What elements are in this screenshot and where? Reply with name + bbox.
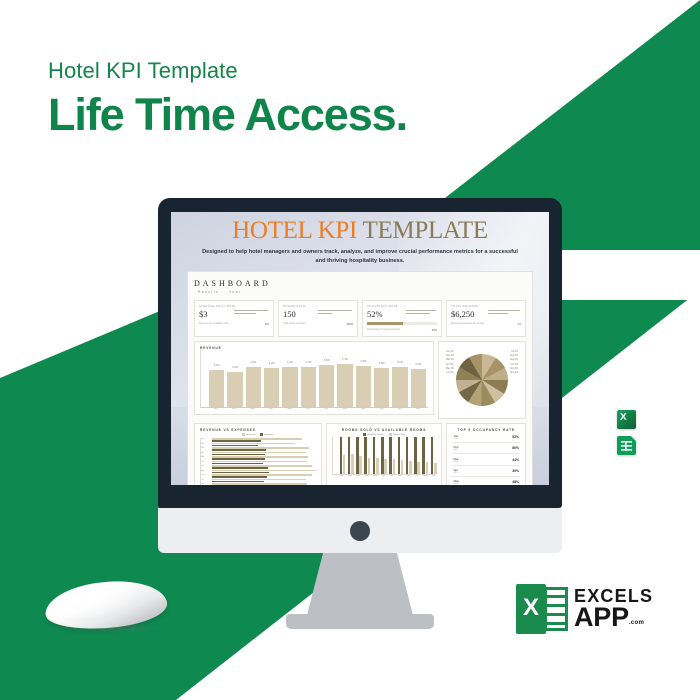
rev-exp-bar	[212, 472, 269, 474]
kpi-label: TOTAL REVENUE	[451, 305, 521, 308]
monitor-logo-dot	[350, 521, 370, 541]
revenue-bar: 6,150	[301, 367, 316, 406]
rev-exp-bar	[212, 467, 268, 469]
top5-month: Mar	[453, 457, 458, 461]
revenue-bar-label: 6,700	[342, 359, 348, 361]
kpi-card[interactable]: OCCUPANCY RATE 52% Percentage of rooms o…	[362, 300, 442, 336]
brand-line2: APP.com	[574, 605, 653, 631]
revenue-x-tick: Sep	[355, 408, 370, 410]
kpi-label: AVERAGE DAILY RATE	[199, 305, 269, 308]
top5-percent: 48%	[512, 480, 519, 484]
top5-row-label: May2024	[453, 479, 459, 485]
rooms-bar-pair	[389, 437, 395, 474]
kpi-sidenote	[234, 310, 268, 315]
revenue-x-tick: Jun	[300, 408, 315, 410]
revenue-bar: 5,800	[209, 370, 224, 407]
rev-exp-row-label: Apr	[201, 452, 204, 454]
rooms-bar	[389, 437, 392, 474]
document-title-primary: HOTEL KPI	[232, 217, 357, 244]
rooms-bar	[422, 437, 425, 474]
computer-mouse	[45, 578, 170, 644]
kpi-card[interactable]: AVERAGE DAILY RATE $3 Revenue per availa…	[194, 300, 274, 336]
eyebrow-text: Hotel KPI Template	[48, 58, 407, 84]
pie-legend-left: Jan 9%Feb 8%Mar 8%Apr 9%May 8%Jun 9%	[446, 350, 454, 376]
rev-exp-row-label: Nov	[201, 483, 204, 485]
rooms-x-tick: Jan	[339, 475, 345, 477]
kpi-card-row: AVERAGE DAILY RATE $3 Revenue per availa…	[194, 300, 526, 336]
headline-block: Hotel KPI Template Life Time Access.	[48, 58, 407, 140]
monitor-stand-neck	[307, 553, 413, 615]
rev-exp-row: Nov	[212, 483, 316, 485]
revenue-bar: 6,050	[374, 368, 389, 407]
rooms-bar	[393, 459, 396, 474]
dashboard-card: DASHBOARD Results Year AVERAGE DAILY RAT…	[187, 271, 533, 485]
top5-row[interactable]: Feb202480%	[452, 443, 520, 454]
rooms-x-tick: Dec	[431, 475, 437, 477]
rev-exp-row: Mar	[212, 447, 316, 451]
bottom-chart-row: REVENUE VS EXPENSES Revenue Expenses Jan…	[194, 423, 526, 485]
revenue-bar-label: 6,450	[360, 361, 366, 363]
top5-year: 2024	[453, 449, 458, 451]
revenue-bar-label: 6,300	[250, 362, 256, 364]
pie-graphic	[456, 354, 508, 406]
brand-wordmark: EXCELS APP.com	[574, 588, 653, 631]
top5-year: 2024	[453, 438, 458, 440]
top5-year: 2024	[453, 472, 458, 474]
revenue-bar-chart[interactable]: REVENUE 5,8005,4006,3006,1006,2006,1506,…	[194, 341, 434, 415]
rev-exp-row: Apr	[212, 452, 316, 456]
kpi-foot-note: Total rooms occupied	[283, 322, 306, 326]
revenue-bar-label: 6,150	[397, 362, 403, 364]
top5-rows: Jan202452%Feb202480%Mar202444%Apr202430%…	[452, 432, 520, 485]
document-title-secondary: TEMPLATE	[357, 217, 488, 244]
top5-year: 2024	[453, 483, 459, 485]
revenue-x-tick: Jul	[319, 408, 334, 410]
revenue-x-tick: Nov	[392, 408, 407, 410]
legend-item-sold: Rooms Sold	[389, 433, 405, 436]
rooms-bar	[409, 461, 412, 474]
kpi-sidenote	[406, 310, 436, 315]
sheets-file-icon[interactable]	[617, 436, 636, 455]
rooms-x-tick: Aug	[397, 475, 403, 477]
top5-occupancy-table[interactable]: TOP 5 OCCUPANCY RATE Jan202452%Feb202480…	[446, 423, 526, 485]
rooms-bar-pair	[406, 437, 412, 474]
pie-plot-area: Jan 9%Feb 8%Mar 8%Apr 9%May 8%Jun 9% Jul…	[444, 346, 520, 414]
monitor-bezel: HOTEL KPI TEMPLATE Designed to help hote…	[158, 198, 562, 508]
mid-chart-row: REVENUE 5,8005,4006,3006,1006,2006,1506,…	[194, 341, 526, 419]
pie-legend-item: Jun 9%	[446, 371, 454, 375]
rev-exp-bar	[212, 458, 265, 460]
rev-exp-bar	[212, 445, 258, 447]
kpi-sidenote	[318, 310, 352, 315]
rooms-bar-pair	[398, 437, 404, 474]
rev-exp-bar	[212, 481, 264, 483]
revenue-x-tick: Apr	[263, 408, 278, 410]
legend-item-revenue: Revenue	[242, 433, 255, 436]
rooms-x-axis: JanFebMarAprMayJunJulAugSepOctNovDec	[332, 475, 437, 477]
page-title: Life Time Access.	[48, 90, 407, 140]
rooms-bar-pair	[373, 437, 379, 474]
rev-exp-row: Jul	[212, 465, 316, 469]
revenue-x-tick: Jan	[208, 408, 223, 410]
brand-logo[interactable]: EXCELS APP.com	[516, 584, 653, 634]
monitor-screen: HOTEL KPI TEMPLATE Designed to help hote…	[171, 212, 549, 485]
rooms-bar-pair	[414, 437, 420, 474]
rev-exp-bar	[212, 440, 261, 442]
top5-row-label: Mar2024	[453, 457, 458, 463]
rooms-x-tick: Mar	[355, 475, 361, 477]
dashboard-sub-left: Results	[198, 290, 219, 294]
rooms-x-tick: Nov	[422, 475, 428, 477]
kpi-foot-value: 115	[265, 323, 269, 326]
revenue-breakdown-pie-chart[interactable]: Jan 9%Feb 8%Mar 8%Apr 9%May 8%Jun 9% Jul…	[438, 341, 526, 419]
revenue-vs-expenses-chart[interactable]: REVENUE VS EXPENSES Revenue Expenses Jan…	[194, 423, 322, 485]
rooms-x-tick: May	[372, 475, 378, 477]
rev-exp-bar	[212, 454, 265, 456]
dashboard-sub-right: Year	[229, 290, 241, 294]
revenue-bar-label: 5,800	[214, 365, 220, 367]
top5-row-label: Feb2024	[453, 445, 458, 451]
revenue-bar: 6,700	[337, 364, 352, 407]
rev-exp-row: Oct	[212, 479, 316, 483]
revenue-bar: 6,500	[319, 365, 334, 406]
revenue-x-tick: Feb	[226, 408, 241, 410]
spreadsheet-document: HOTEL KPI TEMPLATE Designed to help hote…	[181, 218, 539, 485]
rooms-bar	[417, 462, 420, 475]
rooms-bar	[351, 454, 354, 474]
rooms-bar	[426, 462, 429, 474]
revenue-bar: 5,400	[227, 372, 242, 406]
rooms-bar	[434, 463, 437, 474]
revenue-x-tick: Dec	[411, 408, 426, 410]
kpi-footer: Percentage of rooms occupied 52%	[367, 328, 437, 332]
rev-exp-bar	[212, 463, 263, 465]
rooms-bar	[401, 460, 404, 474]
rooms-bar	[384, 459, 387, 475]
mouse-highlight	[51, 584, 140, 625]
brand-tld: .com	[629, 620, 644, 626]
kpi-sidenote	[488, 310, 520, 315]
top5-row[interactable]: Apr202430%	[452, 466, 520, 477]
revenue-x-tick: Aug	[337, 408, 352, 410]
excel-file-icon[interactable]	[617, 410, 636, 429]
rev-exp-row: Jan	[212, 438, 316, 442]
revenue-bar-label: 5,400	[232, 367, 238, 369]
kpi-card[interactable]: TOTAL REVENUE $6,250 Revenue generated t…	[446, 300, 526, 336]
document-title: HOTEL KPI TEMPLATE	[181, 218, 539, 243]
revenue-bar-label: 6,050	[379, 363, 385, 365]
rooms-bar	[381, 437, 384, 474]
occupancy-progress-bar	[367, 322, 437, 325]
rev-exp-row: Sep	[212, 474, 316, 478]
imac-monitor: HOTEL KPI TEMPLATE Designed to help hote…	[158, 198, 562, 629]
revenue-bar: 6,150	[392, 367, 407, 406]
rev-exp-row-label: Jun	[201, 461, 204, 463]
rooms-bar	[348, 437, 351, 474]
top5-percent: 80%	[512, 446, 519, 450]
rooms-bar	[398, 437, 401, 474]
kpi-foot-note: Revenue generated this period	[451, 322, 484, 326]
revenue-x-tick: May	[282, 408, 297, 410]
rev-exp-row-label: Jan	[201, 438, 204, 440]
rev-exp-row-label: Aug	[201, 470, 204, 472]
excel-x-badge	[516, 584, 546, 634]
rooms-bar	[373, 437, 376, 474]
rooms-bar	[368, 458, 371, 475]
kpi-label: OCCUPANCY RATE	[367, 305, 437, 308]
kpi-footer: Revenue per available room 115	[199, 322, 269, 326]
rev-exp-row: Feb	[212, 443, 316, 447]
rev-exp-row: Aug	[212, 470, 316, 474]
promo-canvas: Hotel KPI Template Life Time Access. HOT…	[0, 0, 700, 700]
top5-row[interactable]: Jan202452%	[452, 432, 520, 443]
file-icon-group	[617, 410, 636, 455]
top5-row-label: Jan2024	[453, 434, 458, 440]
top5-percent: 30%	[512, 469, 519, 473]
rev-exp-row: May	[212, 456, 316, 460]
revenue-bar-label: 6,100	[269, 363, 275, 365]
top5-row[interactable]: May202448%	[452, 477, 520, 485]
rooms-x-tick: Jul	[389, 475, 395, 477]
revenue-bar: 6,450	[356, 366, 371, 407]
revenue-x-tick: Oct	[374, 408, 389, 410]
kpi-foot-note: Percentage of rooms occupied	[367, 328, 399, 332]
kpi-footer: Total rooms occupied 100%	[283, 322, 353, 326]
spreadsheet-grid-icon	[544, 587, 568, 631]
top5-percent: 44%	[512, 458, 519, 462]
rooms-sold-chart[interactable]: ROOMS SOLD VS AVAILABLE ROOMS Available …	[326, 423, 443, 485]
kpi-foot-note: Revenue per available room	[199, 322, 229, 326]
rev-exp-bar	[212, 476, 267, 478]
rooms-bar	[343, 455, 346, 474]
rooms-bar	[356, 437, 359, 474]
rooms-plot-area	[332, 437, 437, 475]
revenue-bar-label: 6,500	[324, 360, 330, 362]
rev-exp-row-label: Feb	[201, 443, 204, 445]
top5-year: 2024	[453, 461, 458, 463]
kpi-foot-value: 52%	[432, 329, 437, 332]
rooms-chart-title: ROOMS SOLD VS AVAILABLE ROOMS	[332, 428, 437, 432]
kpi-label: ROOMS SOLD	[283, 305, 353, 308]
rev-exp-row-label: Sep	[201, 474, 204, 476]
rooms-x-tick: Apr	[364, 475, 370, 477]
revenue-bar-label: 5,900	[415, 364, 421, 366]
monitor-chin	[158, 508, 562, 553]
rev-exp-title: REVENUE VS EXPENSES	[200, 428, 316, 432]
dashboard-heading: DASHBOARD	[194, 279, 526, 288]
rooms-bar-pair	[431, 437, 437, 474]
rev-exp-row-label: May	[201, 456, 204, 458]
excel-logo-mark	[516, 584, 568, 634]
rooms-bar-pair	[340, 437, 346, 474]
legend-item-expenses: Expenses	[260, 433, 274, 436]
rev-exp-bar	[212, 449, 266, 451]
rooms-x-tick: Sep	[405, 475, 411, 477]
rooms-bar	[359, 456, 362, 474]
rooms-bar	[414, 437, 417, 474]
monitor-stand-foot	[286, 614, 434, 629]
rooms-bar-pair	[381, 437, 387, 474]
rooms-bar	[340, 437, 343, 474]
revenue-bars-plot-area: 5,8005,4006,3006,1006,2006,1506,5006,700…	[200, 350, 428, 408]
rooms-x-tick: Oct	[414, 475, 420, 477]
top5-title: TOP 5 OCCUPANCY RATE	[452, 428, 520, 432]
pie-legend-right: Jul 8%Aug 8%Sep 8%Oct 8%Nov 8%Dec 9%	[510, 350, 518, 376]
document-subtitle: Designed to help hotel managers and owne…	[181, 248, 539, 265]
legend-item-available: Available Rooms	[363, 433, 384, 436]
revenue-bar: 6,300	[246, 367, 261, 407]
revenue-bar: 6,200	[282, 367, 297, 407]
revenue-x-axis: JanFebMarAprMayJunJulAugSepOctNovDec	[200, 408, 428, 410]
rev-exp-legend: Revenue Expenses	[200, 433, 316, 436]
rooms-x-tick: Jun	[380, 475, 386, 477]
rev-exp-row: Jun	[212, 461, 316, 465]
rooms-legend: Available Rooms Rooms Sold	[332, 433, 437, 436]
rooms-bar	[406, 437, 409, 474]
kpi-footer: Revenue generated this period 1.5	[451, 322, 521, 326]
dashboard-subheading: Results Year	[198, 290, 526, 294]
rev-exp-row-label: Mar	[201, 447, 204, 449]
top5-percent: 52%	[512, 435, 519, 439]
kpi-foot-value: 1.5	[517, 323, 521, 326]
kpi-card[interactable]: ROOMS SOLD 150 Total rooms occupied 100%	[278, 300, 358, 336]
kpi-foot-value: 100%	[346, 323, 353, 326]
rooms-bar-pair	[356, 437, 362, 474]
revenue-bar-label: 6,150	[305, 362, 311, 364]
top5-row[interactable]: Mar202444%	[452, 454, 520, 465]
rooms-bar-pair	[422, 437, 428, 474]
rooms-bar	[431, 437, 434, 474]
rooms-bar-pair	[364, 437, 370, 474]
rev-exp-plot-area: JanFebMarAprMayJunJulAugSepOctNovDec	[200, 438, 316, 485]
pie-legend-item: Dec 9%	[510, 371, 518, 375]
revenue-bar: 5,900	[411, 369, 426, 407]
rooms-bar	[364, 437, 367, 474]
rooms-x-tick: Feb	[347, 475, 353, 477]
revenue-bar-label: 6,200	[287, 362, 293, 364]
rooms-bar	[376, 458, 379, 474]
top5-row-label: Apr2024	[453, 468, 458, 474]
revenue-x-tick: Mar	[245, 408, 260, 410]
rev-exp-row-label: Jul	[201, 465, 203, 467]
rooms-bar-pair	[348, 437, 354, 474]
rev-exp-row-label: Oct	[201, 479, 204, 481]
revenue-bar: 6,100	[264, 368, 279, 407]
